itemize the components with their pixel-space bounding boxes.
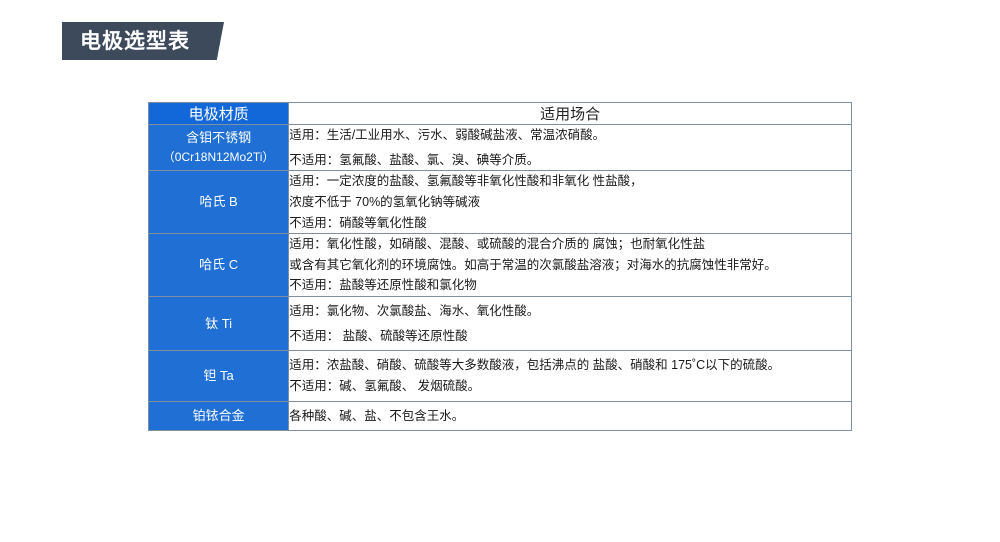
material-code: （0Cr18N12Mo2Ti）	[149, 148, 288, 167]
material-name: 哈氏 B	[199, 194, 237, 209]
application-line: 适用：生活/工业用水、污水、弱酸碱盐液、常温浓硝酸。	[289, 125, 851, 146]
material-name-cell: 钛 Ti	[149, 297, 289, 351]
material-name: 哈氏 C	[199, 257, 238, 272]
material-name: 铂铱合金	[193, 408, 245, 423]
line-spacer	[289, 397, 851, 401]
application-line: 适用：一定浓度的盐酸、氢氟酸等非氧化性酸和非氧化 性盐酸，	[289, 171, 851, 192]
application-line: 不适用： 盐酸、硫酸等还原性酸	[289, 326, 851, 347]
line-spacer	[289, 346, 851, 350]
application-line: 不适用：氢氟酸、盐酸、氯、溴、碘等介质。	[289, 150, 851, 171]
application-line: 各种酸、碱、盐、不包含王水。	[289, 406, 851, 427]
application-line: 不适用：盐酸等还原性酸和氯化物	[289, 275, 851, 296]
application-cell: 适用：氯化物、次氯酸盐、海水、氧化性酸。 不适用： 盐酸、硫酸等还原性酸	[289, 297, 852, 351]
banner-left-accent	[62, 22, 70, 60]
application-line: 不适用：碱、氢氟酸、 发烟硫酸。	[289, 376, 851, 397]
table-row: 哈氏 C 适用：氧化性酸，如硝酸、混酸、或硫酸的混合介质的 腐蚀；也耐氧化性盐 …	[149, 234, 852, 297]
application-line: 不适用：硝酸等氧化性酸	[289, 213, 851, 234]
application-cell: 各种酸、碱、盐、不包含王水。	[289, 401, 852, 431]
material-name-cell: 铂铱合金	[149, 401, 289, 431]
header-material: 电极材质	[149, 103, 289, 125]
page-title-banner: 电极选型表	[62, 22, 224, 60]
line-spacer	[289, 426, 851, 430]
material-name: 钛 Ti	[205, 316, 232, 331]
electrode-spec-table: 电极材质 适用场合 含钼不锈钢 （0Cr18N12Mo2Ti） 适用：生活/工业…	[148, 102, 852, 431]
page-root: 电极选型表 电极材质 适用场合 含钼不锈钢 （0Cr18N12Mo2Ti）	[0, 0, 1000, 542]
banner-body: 电极选型表	[70, 22, 206, 60]
material-name-cell: 哈氏 C	[149, 234, 289, 297]
application-line: 适用：氯化物、次氯酸盐、海水、氧化性酸。	[289, 301, 851, 322]
material-name-cell: 哈氏 B	[149, 171, 289, 234]
material-name: 含钼不锈钢	[186, 130, 251, 145]
material-name-cell: 钽 Ta	[149, 351, 289, 401]
application-line: 或含有其它氧化剂的环境腐蚀。如高于常温的次氯酸盐溶液；对海水的抗腐蚀性非常好。	[289, 255, 851, 276]
page-title: 电极选型表	[80, 31, 190, 52]
header-application: 适用场合	[289, 103, 852, 125]
material-name-cell: 含钼不锈钢 （0Cr18N12Mo2Ti）	[149, 125, 289, 171]
table-header-row: 电极材质 适用场合	[149, 103, 852, 125]
table-row: 含钼不锈钢 （0Cr18N12Mo2Ti） 适用：生活/工业用水、污水、弱酸碱盐…	[149, 125, 852, 171]
application-line: 适用：浓盐酸、硝酸、硫酸等大多数酸液，包括沸点的 盐酸、硝酸和 175˚C以下的…	[289, 355, 851, 376]
table-row: 钽 Ta 适用：浓盐酸、硝酸、硫酸等大多数酸液，包括沸点的 盐酸、硝酸和 175…	[149, 351, 852, 401]
application-line: 适用：氧化性酸，如硝酸、混酸、或硫酸的混合介质的 腐蚀；也耐氧化性盐	[289, 234, 851, 255]
application-cell: 适用：氧化性酸，如硝酸、混酸、或硫酸的混合介质的 腐蚀；也耐氧化性盐 或含有其它…	[289, 234, 852, 297]
application-line: 浓度不低于 70%的氢氧化钠等碱液	[289, 192, 851, 213]
application-cell: 适用：浓盐酸、硝酸、硫酸等大多数酸液，包括沸点的 盐酸、硝酸和 175˚C以下的…	[289, 351, 852, 401]
table-row: 哈氏 B 适用：一定浓度的盐酸、氢氟酸等非氧化性酸和非氧化 性盐酸， 浓度不低于…	[149, 171, 852, 234]
material-name: 钽 Ta	[203, 368, 233, 383]
banner-slant-accent	[206, 22, 224, 60]
table-row: 铂铱合金 各种酸、碱、盐、不包含王水。	[149, 401, 852, 431]
application-cell: 适用：生活/工业用水、污水、弱酸碱盐液、常温浓硝酸。 不适用：氢氟酸、盐酸、氯、…	[289, 125, 852, 171]
table-row: 钛 Ti 适用：氯化物、次氯酸盐、海水、氧化性酸。 不适用： 盐酸、硫酸等还原性…	[149, 297, 852, 351]
application-cell: 适用：一定浓度的盐酸、氢氟酸等非氧化性酸和非氧化 性盐酸， 浓度不低于 70%的…	[289, 171, 852, 234]
electrode-spec-table-wrapper: 电极材质 适用场合 含钼不锈钢 （0Cr18N12Mo2Ti） 适用：生活/工业…	[148, 102, 852, 431]
